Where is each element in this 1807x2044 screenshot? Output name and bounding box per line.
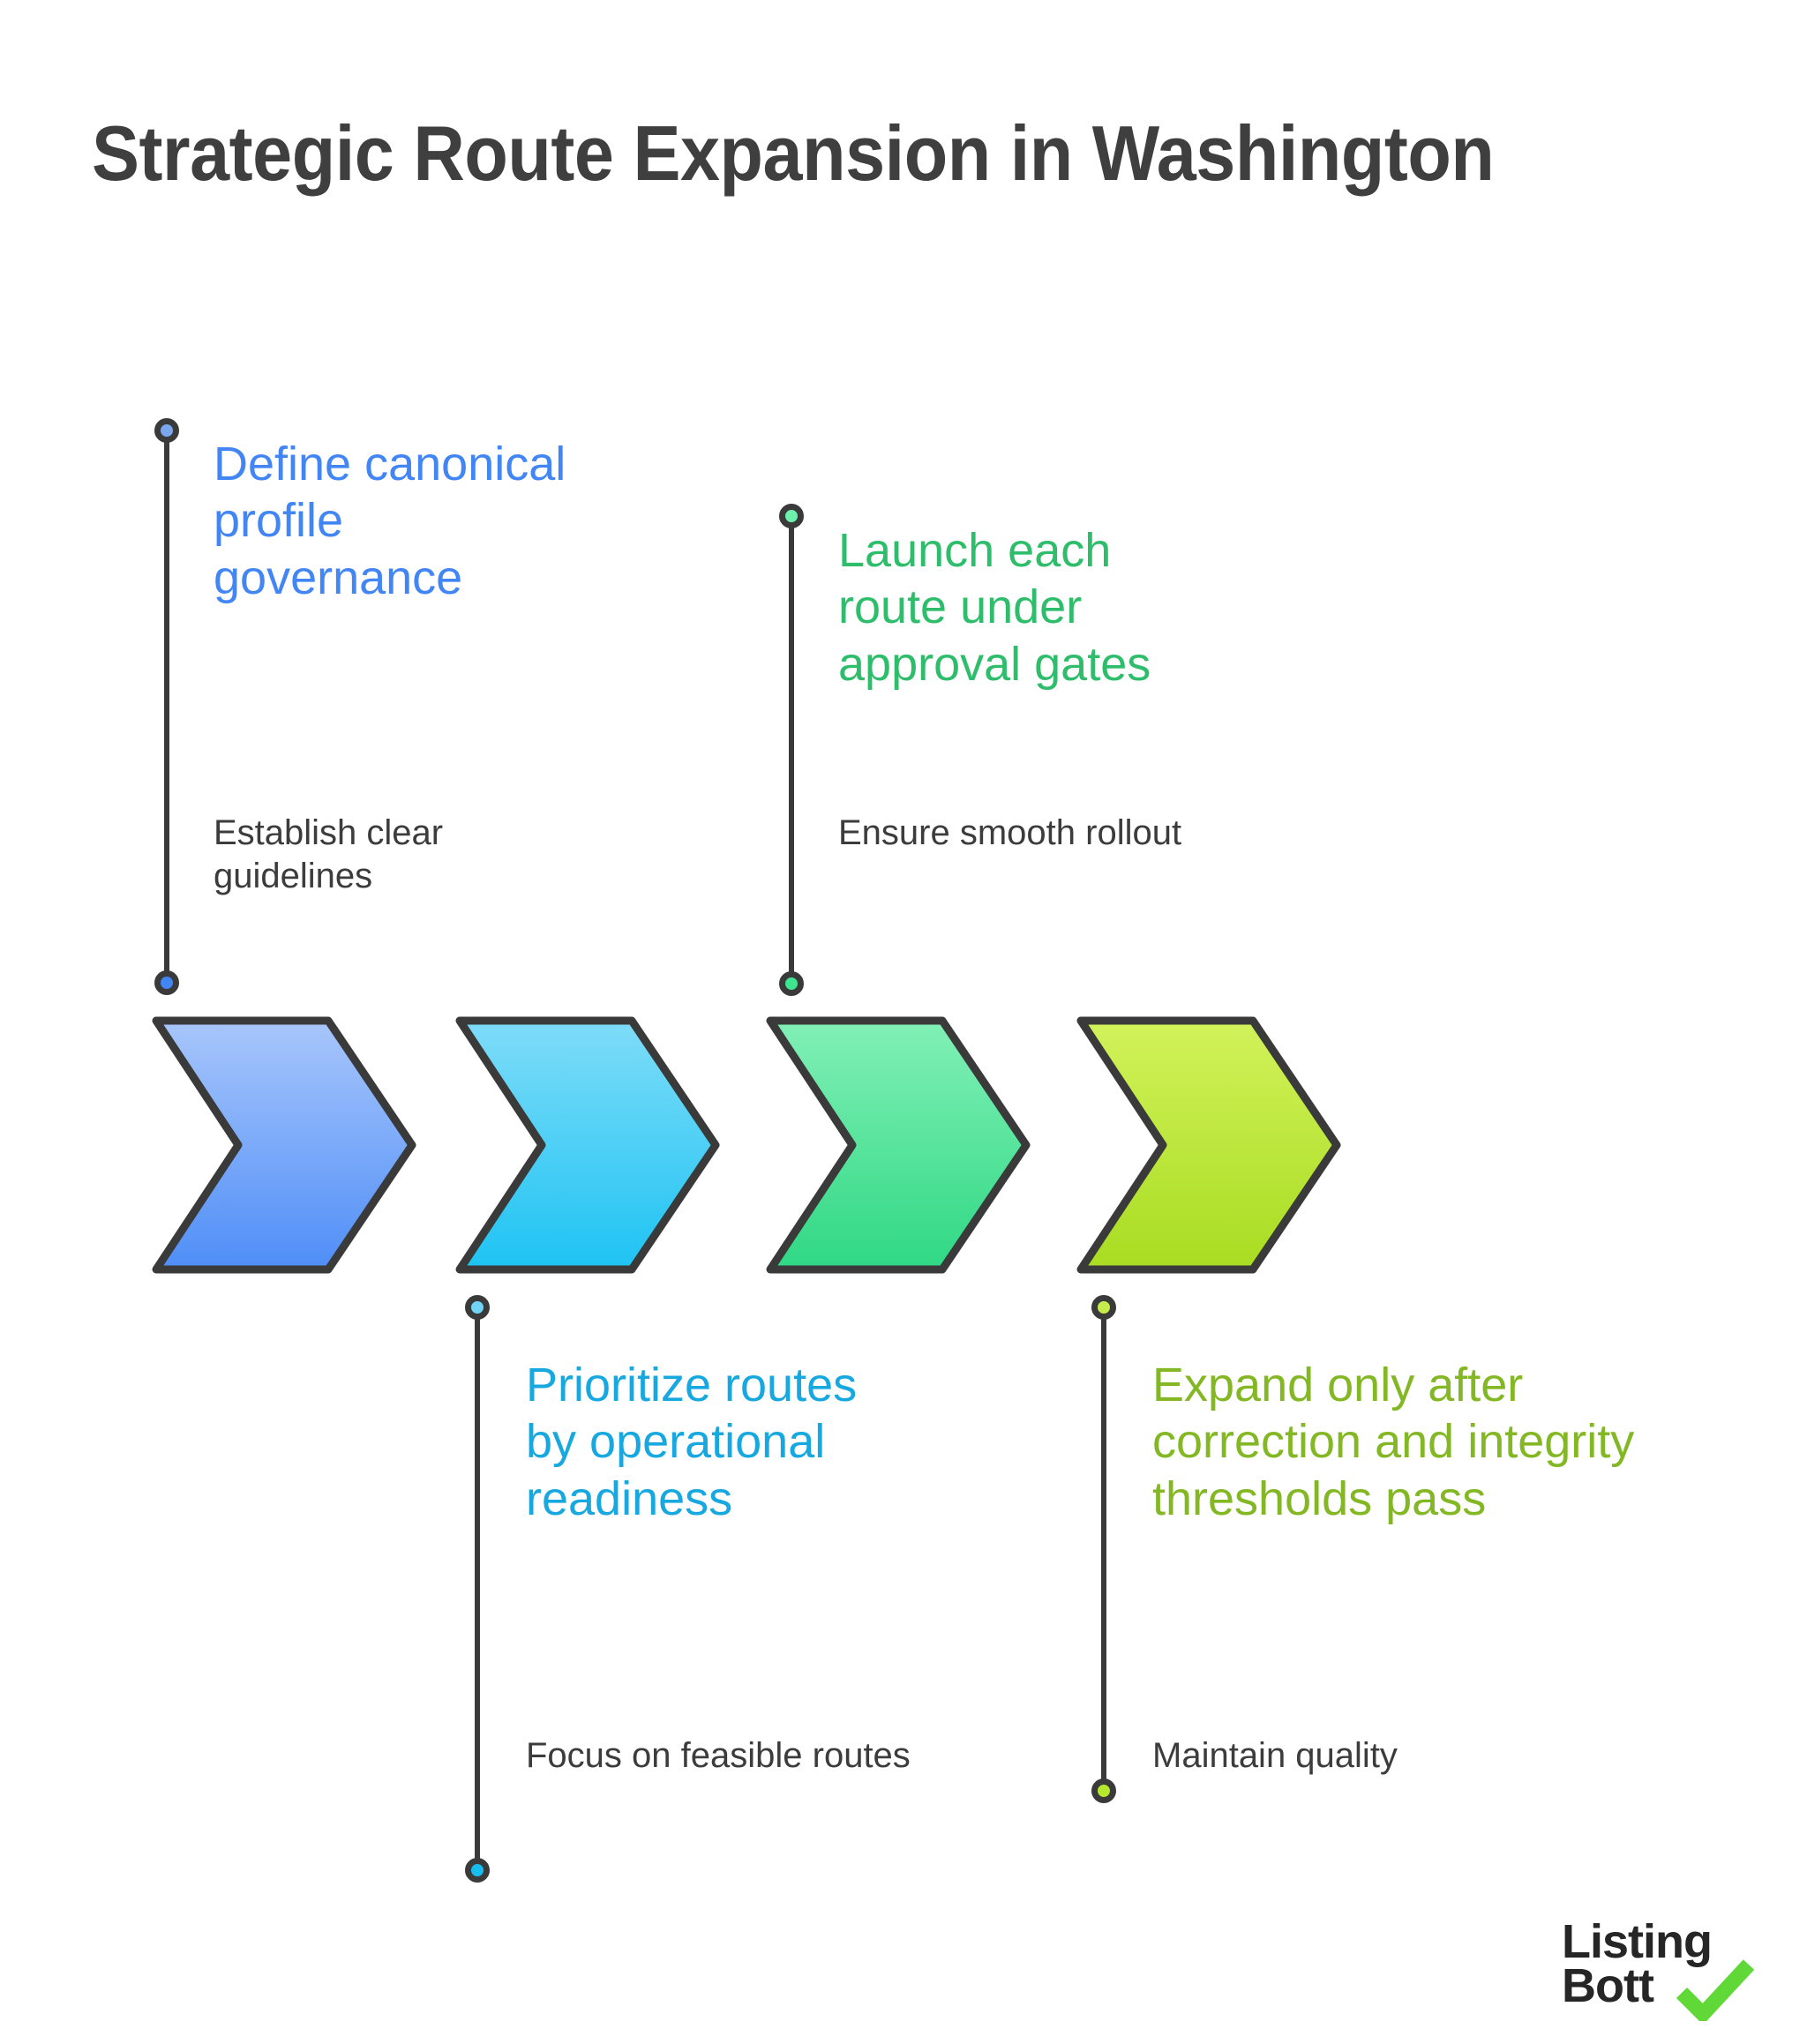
chevron-process-row: [0, 1016, 1807, 1281]
stage-1-title: Define canonical profile governance: [214, 436, 593, 606]
stage-2-subtitle: Focus on feasible routes: [526, 1734, 941, 1778]
connector-dot-top: [1091, 1295, 1116, 1320]
check-icon: [1675, 1958, 1756, 2021]
chevron-stage-3[interactable]: [766, 1016, 1031, 1274]
connector-dot-top: [154, 418, 179, 443]
stage-2-title: Prioritize routes by operational readine…: [526, 1357, 905, 1527]
stage-4-subtitle: Maintain quality: [1152, 1734, 1611, 1778]
connector-line: [789, 516, 794, 984]
connector-line: [164, 431, 169, 983]
connector-dot-top: [465, 1295, 490, 1320]
connector-line: [475, 1307, 480, 1870]
stage-3-subtitle: Ensure smooth rollout: [838, 812, 1209, 855]
stage-4-title: Expand only after correction and integri…: [1152, 1357, 1655, 1527]
stage-3-title: Launch each route under approval gates: [838, 522, 1209, 693]
chevron-stage-4[interactable]: [1076, 1016, 1341, 1274]
brand-logo[interactable]: Listing Bott: [1488, 1920, 1752, 2033]
chevron-stage-2[interactable]: [455, 1016, 720, 1274]
connector-dot-bottom: [154, 970, 179, 995]
connector-dot-bottom: [465, 1858, 490, 1883]
connector-dot-bottom: [779, 971, 804, 996]
connector-dot-top: [779, 504, 804, 528]
infographic-canvas: Strategic Route Expansion in Washington: [0, 0, 1807, 2044]
connector-dot-bottom: [1091, 1778, 1116, 1803]
stage-1-subtitle: Establish clear guidelines: [214, 812, 593, 898]
page-title: Strategic Route Expansion in Washington: [92, 113, 1593, 194]
chevron-stage-1[interactable]: [152, 1016, 416, 1274]
connector-line: [1101, 1307, 1106, 1791]
